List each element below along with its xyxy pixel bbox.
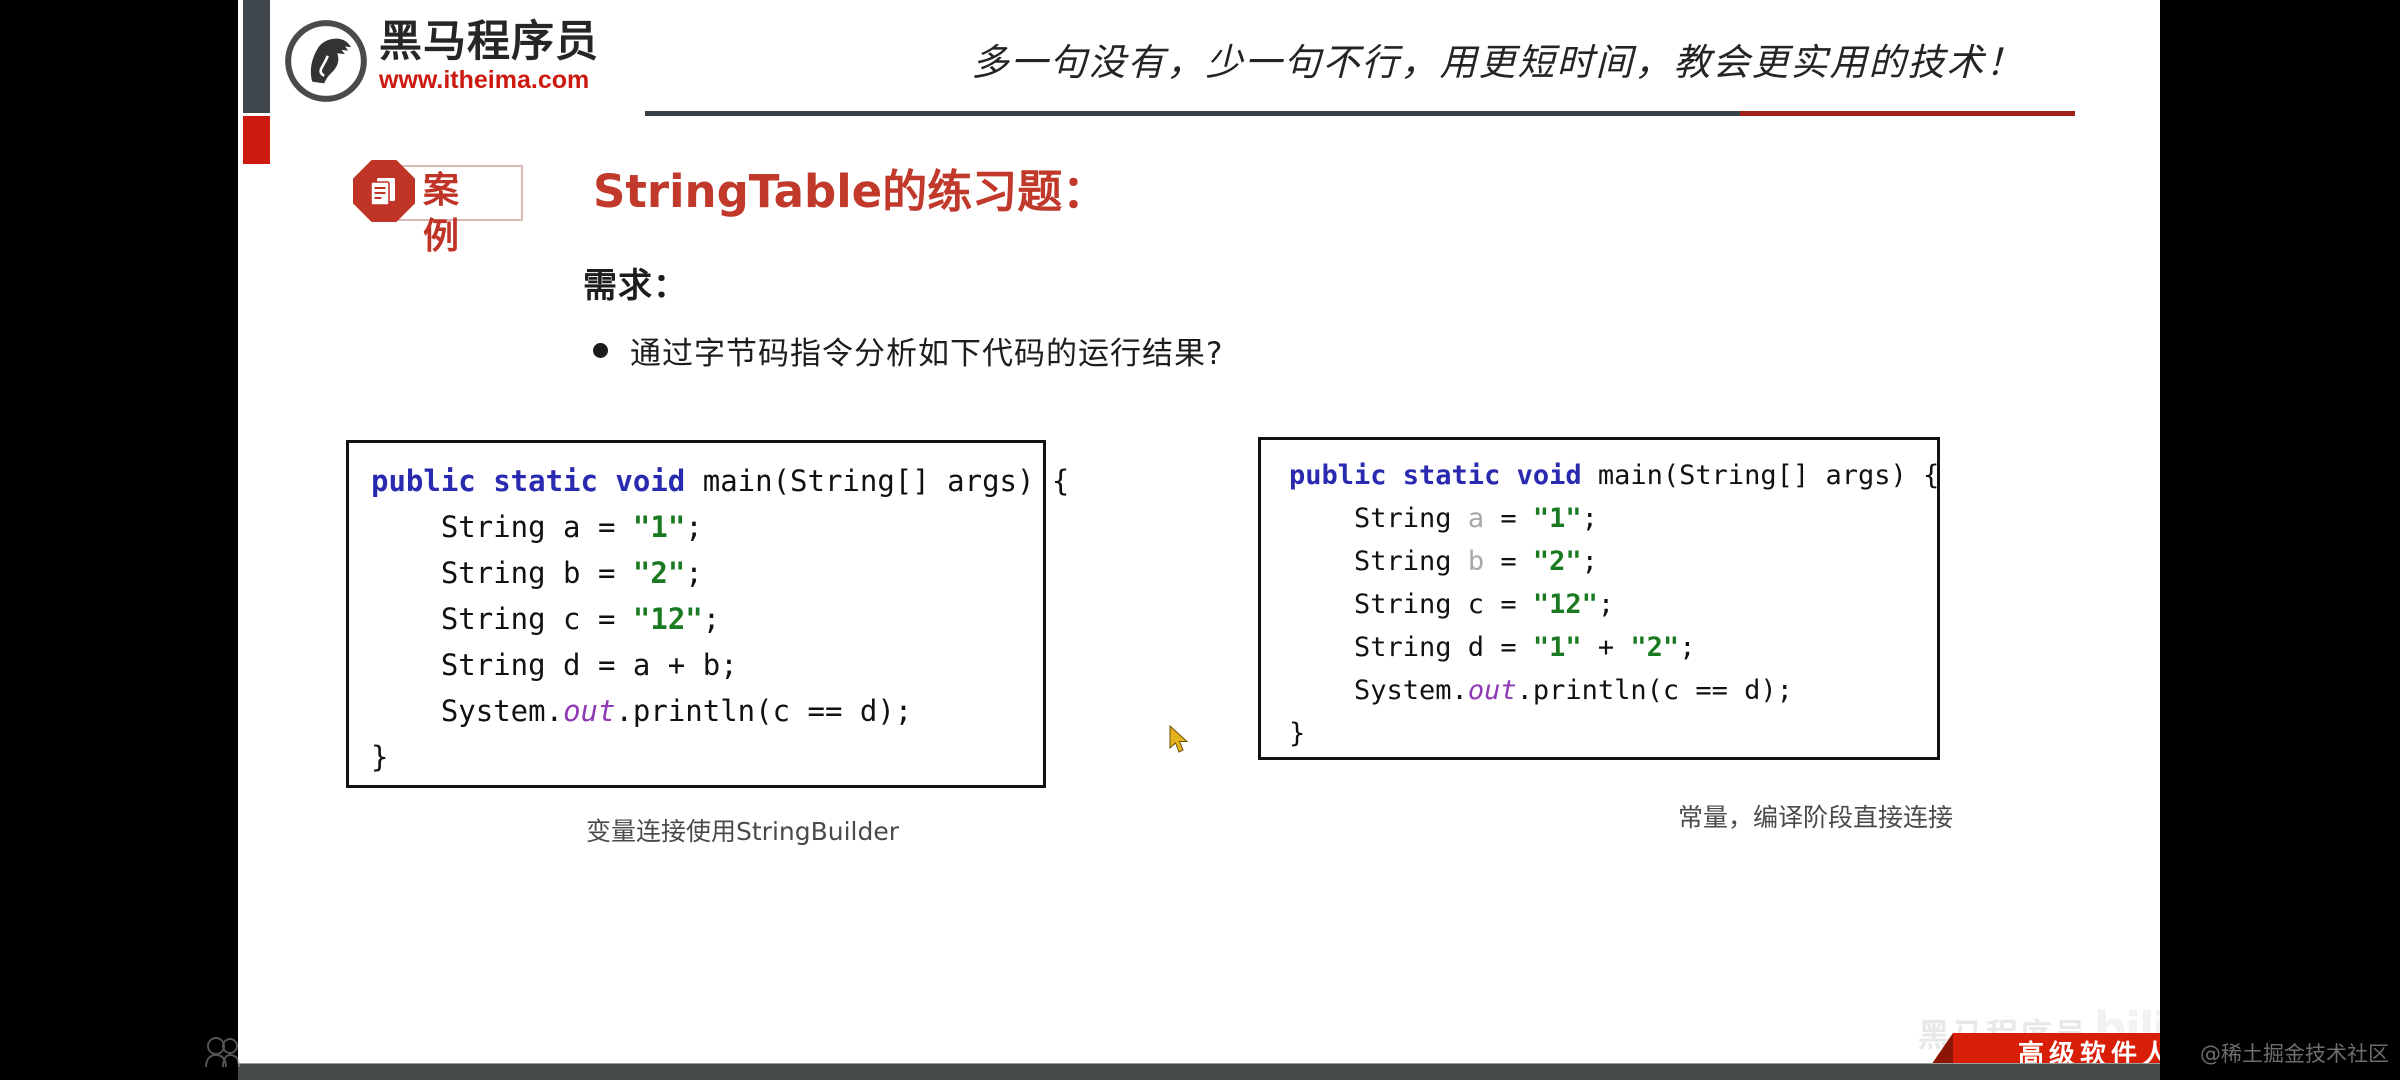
people-group-icon[interactable]: [202, 1035, 242, 1069]
desktop-taskbar-strip: [238, 1063, 2160, 1080]
header-gray-bar: [243, 0, 270, 113]
arrow-cursor-icon: [1168, 725, 1190, 755]
brand-logo-text: 黑马程序员 www.itheima.com: [379, 18, 599, 94]
horse-head-logo-icon: [283, 18, 369, 104]
code-block-left-caption: 变量连接使用StringBuilder: [586, 812, 899, 848]
header-divider-dark-segment: [645, 111, 1740, 116]
brand-name-cn: 黑马程序员: [379, 18, 599, 66]
document-list-icon: [369, 175, 399, 207]
requirement-heading: 需求：: [583, 258, 688, 307]
slide-title: StringTable的练习题：: [593, 155, 1107, 220]
code-block-left-body: public static void main(String[] args) {…: [349, 443, 1043, 780]
brand-url: www.itheima.com: [379, 66, 599, 94]
requirement-bullet-text: 通过字节码指令分析如下代码的运行结果?: [630, 328, 1223, 373]
video-player-frame: 黑马程序员 www.itheima.com 多一句没有，少一句不行，用更短时间，…: [0, 0, 2400, 1080]
case-badge-label: 案例: [423, 168, 461, 260]
code-block-right: public static void main(String[] args) {…: [1258, 437, 1940, 760]
header-divider: [645, 111, 2075, 116]
header-tagline: 多一句没有，少一句不行，用更短时间，教会更实用的技术！: [878, 32, 2118, 86]
community-watermark: @稀土掘金技术社区: [2200, 1038, 2389, 1068]
header-red-block: [243, 116, 270, 164]
footer-ribbon: 高级软件人才培训专家: [1953, 1033, 2160, 1063]
code-block-left: public static void main(String[] args) {…: [346, 440, 1046, 788]
header-divider-red-segment: [1740, 111, 2075, 116]
code-block-right-caption: 常量，编译阶段直接连接: [1678, 798, 1953, 834]
bullet-dot-icon: [593, 343, 608, 358]
requirement-bullet-item: 通过字节码指令分析如下代码的运行结果?: [593, 328, 1223, 373]
brand-logo: 黑马程序员 www.itheima.com: [283, 10, 643, 110]
footer-ribbon-text: 高级软件人才培训专家: [2018, 1034, 2160, 1064]
code-block-right-body: public static void main(String[] args) {…: [1261, 440, 1937, 755]
slide-canvas: 黑马程序员 www.itheima.com 多一句没有，少一句不行，用更短时间，…: [238, 0, 2160, 1063]
